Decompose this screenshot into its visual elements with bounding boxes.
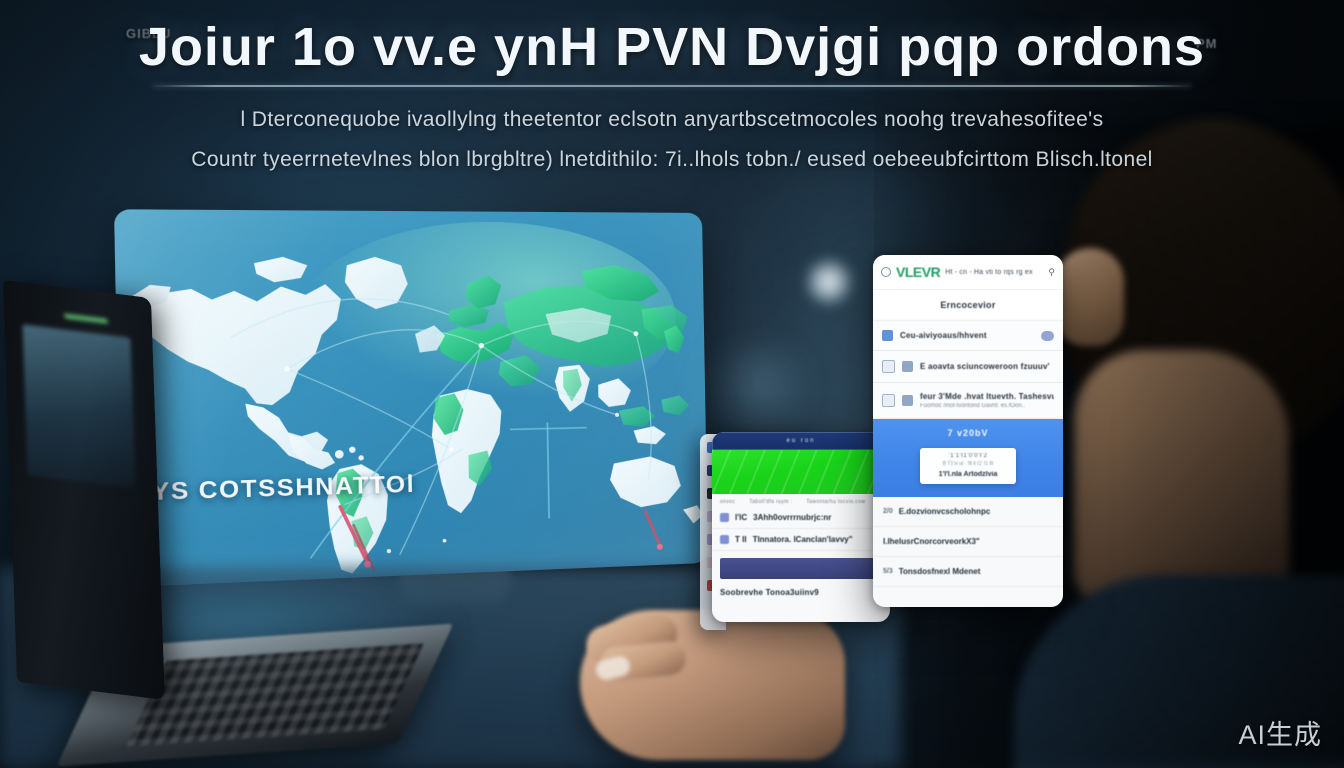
card-b-caption-left: onvoc [720,499,735,505]
hero-box-line-1: '1'1'I1'0'0'I'2 [924,453,1012,459]
footer-row-number: 5/3 [883,568,893,575]
back-chevron-icon[interactable] [881,267,891,277]
card-b-caption-mid: Taboll'dfa ruym : [749,499,792,505]
status-square-icon [902,361,913,372]
card-b-progress-bar[interactable] [720,558,882,579]
footer-row-label: Tonsdosfnexl Mdenet [899,567,981,576]
list-item[interactable]: Ceu-aiviyoaus/hhvent [873,321,1063,351]
card-a-hero-box[interactable]: '1'1'I1'0'0'I'2 B T1'vi ut . 'Ill Ii I1'… [920,448,1016,484]
card-a-hero-title: 7 v20bV [873,428,1063,438]
card-b-status-banner [712,450,890,494]
laptop-screen[interactable] [23,324,136,488]
card-b-row-2-label: Tlnnatora. lCanclan'lavvy" [753,535,853,544]
ai-generated-watermark: AI生成 [1238,713,1322,752]
card-a-footer-row[interactable]: 5/3 Tonsdosfnexl Mdenet [873,557,1063,587]
list-item-sublabel: Fuomoc /inot-tvontond Gavnt: es.fOon.. [920,403,1054,409]
card-b-row-2-num: T Il [735,535,747,544]
card-b-row-1-label: 3Ahh0ovrrrnubrjc:nr [753,513,831,522]
header: Joiur 1o vv.e ynH PVN Dvjgi pqp ordons l… [0,18,1344,177]
chip-icon [720,513,729,522]
card-a-topbar: VLEVR Ht - cn - Ha vti to rqs rg ex ⚲ [873,255,1063,290]
checkbox-icon[interactable] [882,360,895,373]
card-b-row-1-num: l'lC [735,513,747,522]
hero-box-line-2: B T1'vi ut . 'Ill Ii I1' I1 Ilt [924,461,1012,467]
card-b-caption-right: Tawontarhu tocvio.cow [806,499,865,505]
laptop-status-led-icon [64,313,108,323]
floating-card-secondary[interactable]: eu ron onvoc Taboll'dfa ruym : Tawontarh… [712,432,890,622]
page-title: Joiur 1o vv.e ynH PVN Dvjgi pqp ordons [0,18,1344,76]
list-item-label: Ceu-aiviyoaus/hhvent [900,331,1034,340]
list-item-label: feur 3'Mde .hvat ltuevth. Tashesvu.di,l [920,392,1054,401]
chip-icon [720,535,729,544]
status-badge [1041,331,1054,341]
card-a-hero-panel: 7 v20bV '1'1'I1'0'0'I'2 B T1'vi ut . 'Il… [873,419,1063,497]
status-square-icon [902,395,913,406]
card-b-row-1[interactable]: l'lC 3Ahh0ovrrrnubrjc:nr [712,507,890,529]
card-a-footer-row[interactable]: I.lhelusrCnorcorveorkX3" [873,527,1063,557]
laptop [0,280,440,750]
laptop-lid [3,280,165,700]
footer-row-label: I.lhelusrCnorcorveorkX3" [883,537,980,546]
subtitle-line-1: l Dterconequobe ivaollylng theetentor ec… [0,103,1344,137]
screenshot-root: YS COTSSHNATTOl eu ron onvoc [0,0,1344,768]
floating-card-primary[interactable]: VLEVR Ht - cn - Ha vti to rqs rg ex ⚲ Er… [873,255,1063,607]
list-item-label: E aoavta sciuncoweroon fzuuuv' [920,362,1054,371]
card-b-navbar: eu ron [712,432,890,450]
card-b-row-2[interactable]: T Il Tlnnatora. lCanclan'lavvy" [712,529,890,551]
list-item[interactable]: feur 3'Mde .hvat ltuevth. Tashesvu.di,l … [873,383,1063,419]
card-a-footer-row[interactable]: 2/0 E.dozvionvcscholohnpc [873,497,1063,527]
location-pin-icon[interactable]: ⚲ [1048,267,1055,278]
brand-logo: VLEVR [896,264,940,280]
footer-row-label: E.dozvionvcscholohnpc [899,507,991,516]
card-b-footer-label: Soobrevhe Tonoa3uiinv9 [712,584,890,605]
card-a-topbar-text: Ht - cn - Ha vti to rqs rg ex [945,269,1043,276]
footer-row-number: 2/0 [883,508,893,515]
hero-box-line-3: 1'l'l.nla Artodzlvia [924,471,1012,478]
status-square-icon [882,330,893,341]
subtitle-line-2: Countr tyeerrnetevlnes blon lbrgbltre) l… [0,143,1344,177]
checkbox-icon[interactable] [882,394,895,407]
title-divider [152,85,1192,87]
card-a-subheader: Erncocevior [873,290,1063,321]
list-item[interactable]: E aoavta sciuncoweroon fzuuuv' [873,351,1063,383]
card-b-caption-row: onvoc Taboll'dfa ruym : Tawontarhu tocvi… [712,494,890,507]
